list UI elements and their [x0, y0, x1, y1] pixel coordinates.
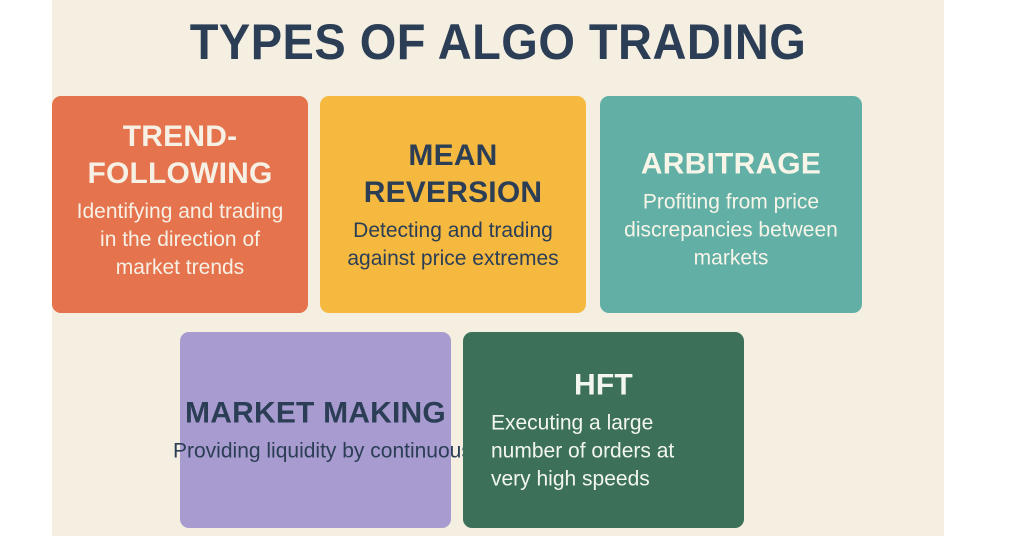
card-title-mean-reversion: MEAN REVERSION [326, 137, 580, 211]
poster-canvas: TYPES OF ALGO TRADING TREND- FOLLOWING I… [52, 0, 944, 536]
card-mean-reversion: MEAN REVERSION Detecting and trading aga… [320, 96, 586, 313]
card-title-hft: HFT [491, 367, 716, 404]
card-content: TREND- FOLLOWING Identifying and trading… [52, 118, 308, 282]
infographic-poster: TYPES OF ALGO TRADING TREND- FOLLOWING I… [0, 0, 1024, 536]
card-title-trend-following: TREND- FOLLOWING [58, 118, 302, 192]
card-arbitrage: ARBITRAGE Profiting from price discrepan… [600, 96, 862, 313]
card-description-arbitrage: Profiting from price discrepancies betwe… [606, 188, 856, 272]
card-description-trend-following: Identifying and trading in the direction… [58, 198, 302, 282]
card-market-making: MARKET MAKING Providing liquidity by con… [180, 332, 451, 528]
card-description-mean-reversion: Detecting and trading against price extr… [326, 217, 580, 273]
card-content: MARKET MAKING Providing liquidity by con… [180, 395, 451, 466]
card-title-arbitrage: ARBITRAGE [606, 145, 856, 182]
card-hft: HFT Executing a large number of orders a… [463, 332, 744, 528]
card-content: ARBITRAGE Profiting from price discrepan… [600, 145, 862, 272]
card-description-hft: Executing a large number of orders at ve… [491, 410, 716, 494]
card-title-market-making: MARKET MAKING [180, 395, 451, 432]
card-description-market-making: Providing liquidity by continuously quot… [173, 438, 458, 466]
card-content: MEAN REVERSION Detecting and trading aga… [320, 137, 586, 273]
page-title: TYPES OF ALGO TRADING [79, 6, 917, 78]
card-trend-following: TREND- FOLLOWING Identifying and trading… [52, 96, 308, 313]
card-content: HFT Executing a large number of orders a… [463, 367, 744, 494]
